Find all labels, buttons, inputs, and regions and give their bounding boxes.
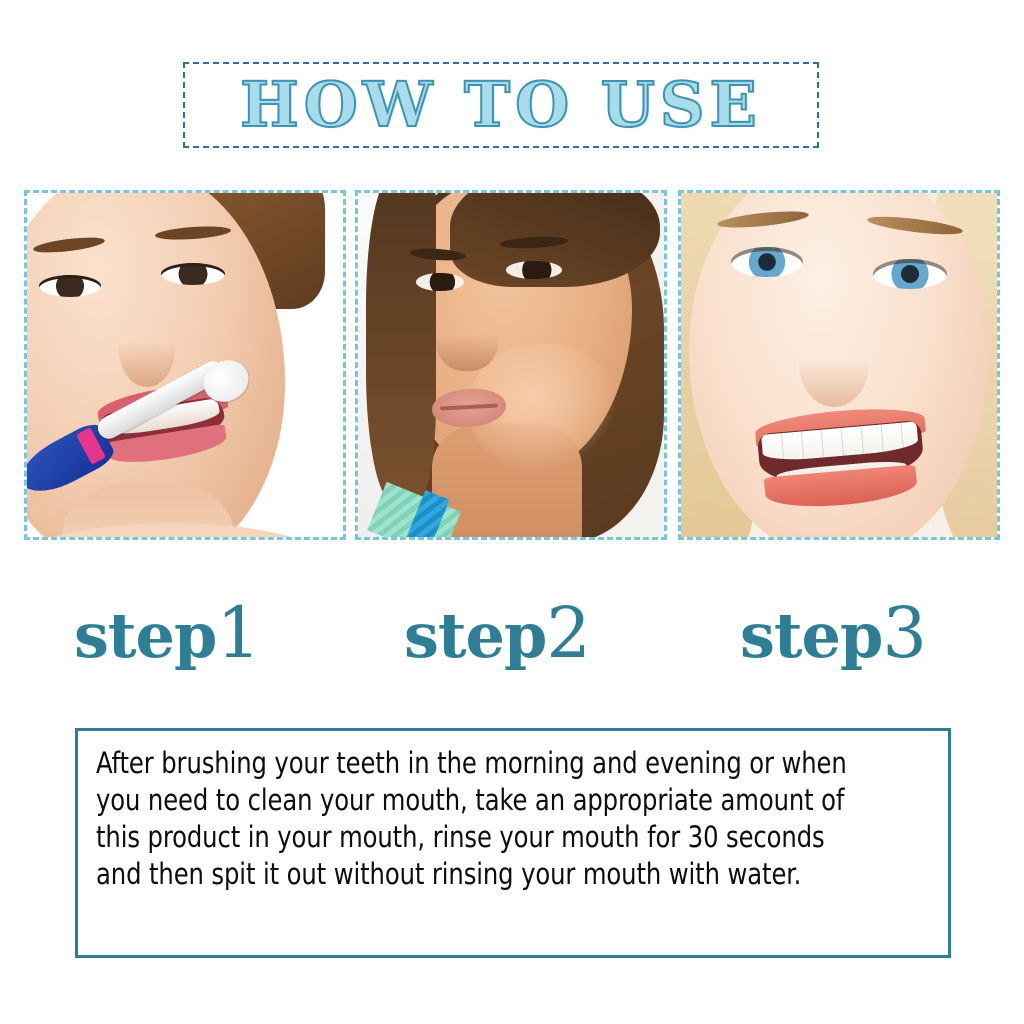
step-2-word: step (404, 599, 546, 672)
step-2-photo (355, 190, 667, 540)
step-1-number: 1 (216, 592, 261, 674)
hair-side-shape (366, 193, 436, 503)
step-3-word: step (740, 599, 882, 672)
page-title: HOW TO USE (185, 64, 817, 146)
step-3-number: 3 (882, 592, 927, 674)
instructions-box: After brushing your teeth in the morning… (75, 728, 951, 958)
step-labels-row: step1 step2 step3 (24, 588, 1000, 678)
eye-left-shape (416, 273, 464, 291)
eye-right-shape (161, 263, 225, 285)
step-2-illustration (358, 193, 664, 537)
step-1-label: step1 (74, 588, 261, 697)
eye-right-shape (873, 259, 947, 289)
step-2-label: step2 (404, 588, 591, 697)
step-1-illustration (27, 193, 343, 537)
step-3-illustration (681, 193, 997, 537)
step-2-number: 2 (546, 592, 591, 674)
nose-shape (436, 305, 498, 371)
eye-right-shape (506, 261, 562, 279)
eye-left-shape (39, 275, 101, 297)
eye-left-shape (731, 247, 803, 277)
step-1-word: step (74, 599, 216, 672)
step-3-label: step3 (740, 588, 927, 697)
nose-shape (119, 311, 175, 387)
nose-shape (799, 321, 869, 407)
step-1-photo (24, 190, 346, 540)
title-banner: HOW TO USE (183, 62, 819, 148)
instructions-text: After brushing your teeth in the morning… (96, 745, 875, 893)
steps-photo-row (24, 190, 1000, 540)
step-3-photo (678, 190, 1000, 540)
